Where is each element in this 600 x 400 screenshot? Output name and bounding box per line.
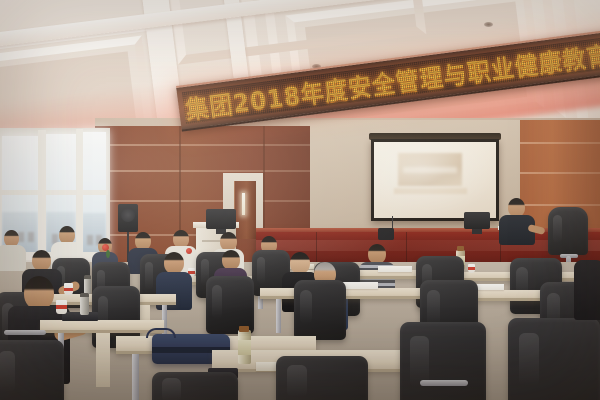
- person-head-long-hair: [290, 252, 310, 274]
- paper-cup: [56, 300, 67, 314]
- desk-leg: [132, 354, 139, 400]
- chair-base: [420, 380, 468, 386]
- person-torso: [574, 260, 600, 320]
- window-transom: [0, 190, 108, 195]
- executive-chair: [548, 207, 588, 255]
- thermos-bottle: [84, 278, 91, 294]
- person-head: [24, 276, 54, 310]
- desktop-speaker: [378, 228, 394, 240]
- desk-modesty-panel: [96, 333, 110, 387]
- audience-chair[interactable]: [294, 280, 346, 340]
- person-head: [368, 244, 386, 264]
- audience-chair[interactable]: [400, 322, 486, 400]
- desk-leg: [276, 299, 281, 333]
- audience-chair[interactable]: [0, 340, 64, 400]
- conference-room-photo: 陇运集团2018年度安全管理与职业健康教育培训: [0, 0, 600, 400]
- person-head: [222, 250, 240, 270]
- bag-strap: [146, 328, 176, 338]
- thermos-bottle: [80, 296, 89, 315]
- person-torso: [0, 245, 26, 271]
- training-desk-foreground: [40, 320, 164, 333]
- audience-chair[interactable]: [508, 318, 600, 400]
- person-head: [164, 252, 184, 274]
- paper-cup: [64, 283, 73, 295]
- audience-chair[interactable]: [276, 356, 368, 400]
- projection-screen: [371, 139, 499, 221]
- person-head: [32, 250, 51, 271]
- leaf: [106, 250, 110, 258]
- audience-chair[interactable]: [152, 372, 238, 400]
- pa-speaker: [118, 204, 138, 232]
- side-door[interactable]: [234, 181, 256, 239]
- handout-paper: [378, 266, 412, 272]
- flower-arrangement: [186, 248, 192, 254]
- door-gap-light: [242, 193, 245, 215]
- chair-base: [4, 330, 46, 335]
- computer-monitor: [206, 209, 236, 229]
- bottled-drink: [238, 330, 251, 364]
- computer-monitor: [464, 212, 490, 229]
- paper-cup: [468, 264, 475, 273]
- downlight: [484, 22, 493, 27]
